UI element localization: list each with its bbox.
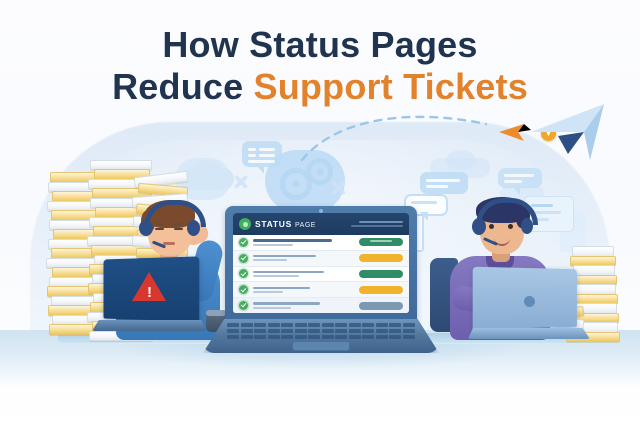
status-badge xyxy=(359,270,403,278)
headset-earcup xyxy=(187,220,200,236)
status-badge xyxy=(359,286,403,294)
status-row[interactable] xyxy=(233,267,409,283)
right-agent-laptop xyxy=(470,268,588,344)
headset-earcup xyxy=(521,218,533,234)
illustration-canvas: ▼ xyxy=(0,0,640,427)
status-page-title-main: STATUS xyxy=(255,219,292,229)
title-line-2-dark: Reduce xyxy=(112,66,253,107)
check-circle-icon xyxy=(239,238,248,247)
laptop-base xyxy=(92,320,206,331)
status-badge xyxy=(359,302,403,310)
status-page-screen[interactable]: STATUS PAGE xyxy=(233,213,409,313)
center-laptop: STATUS PAGE xyxy=(203,206,439,351)
headset-earcup xyxy=(139,220,153,236)
status-row[interactable] xyxy=(233,282,409,298)
status-page-title: STATUS PAGE xyxy=(255,219,316,229)
check-circle-icon xyxy=(239,285,248,294)
laptop-lid: STATUS PAGE xyxy=(225,206,417,322)
headset-earcup xyxy=(472,218,486,235)
check-circle-icon xyxy=(239,301,248,310)
status-row[interactable] xyxy=(233,251,409,267)
check-circle-icon xyxy=(239,269,248,278)
title-line-2: Reduce Support Tickets xyxy=(0,66,640,108)
service-name-placeholder xyxy=(253,239,354,246)
list-bubble-icon xyxy=(242,141,282,167)
check-circle-icon xyxy=(239,254,248,263)
laptop-logo xyxy=(524,296,535,307)
laptop-keyboard-deck xyxy=(203,319,439,353)
x-mark-icon xyxy=(233,174,249,190)
status-row[interactable] xyxy=(233,298,409,313)
title-line-2-accent: Support Tickets xyxy=(254,66,528,107)
status-badge xyxy=(359,238,403,246)
status-page-meta xyxy=(351,221,403,227)
left-agent-laptop: ! xyxy=(90,258,202,340)
chat-bubble-icon xyxy=(498,168,542,188)
x-mark-icon xyxy=(330,180,347,197)
page-title: How Status Pages Reduce Support Tickets xyxy=(0,24,640,108)
warning-exclamation: ! xyxy=(147,285,152,300)
service-name-placeholder xyxy=(253,271,354,278)
laptop-trackpad[interactable] xyxy=(292,341,350,351)
status-row-list xyxy=(233,235,409,313)
title-line-1: How Status Pages xyxy=(0,24,640,66)
service-name-placeholder xyxy=(253,302,354,309)
chat-bubble-icon xyxy=(420,172,468,194)
status-row[interactable] xyxy=(233,235,409,251)
service-name-placeholder xyxy=(253,287,354,294)
webcam-icon xyxy=(319,209,323,213)
green-circle-check-icon xyxy=(239,218,251,230)
laptop-base xyxy=(468,328,590,339)
status-page-title-sub: PAGE xyxy=(295,222,316,229)
small-plane-icon xyxy=(498,120,532,144)
service-name-placeholder xyxy=(253,255,354,262)
status-page-header: STATUS PAGE xyxy=(233,213,409,235)
status-badge xyxy=(359,254,403,262)
laptop-keys xyxy=(227,323,415,339)
paper-plane-icon xyxy=(528,102,610,164)
